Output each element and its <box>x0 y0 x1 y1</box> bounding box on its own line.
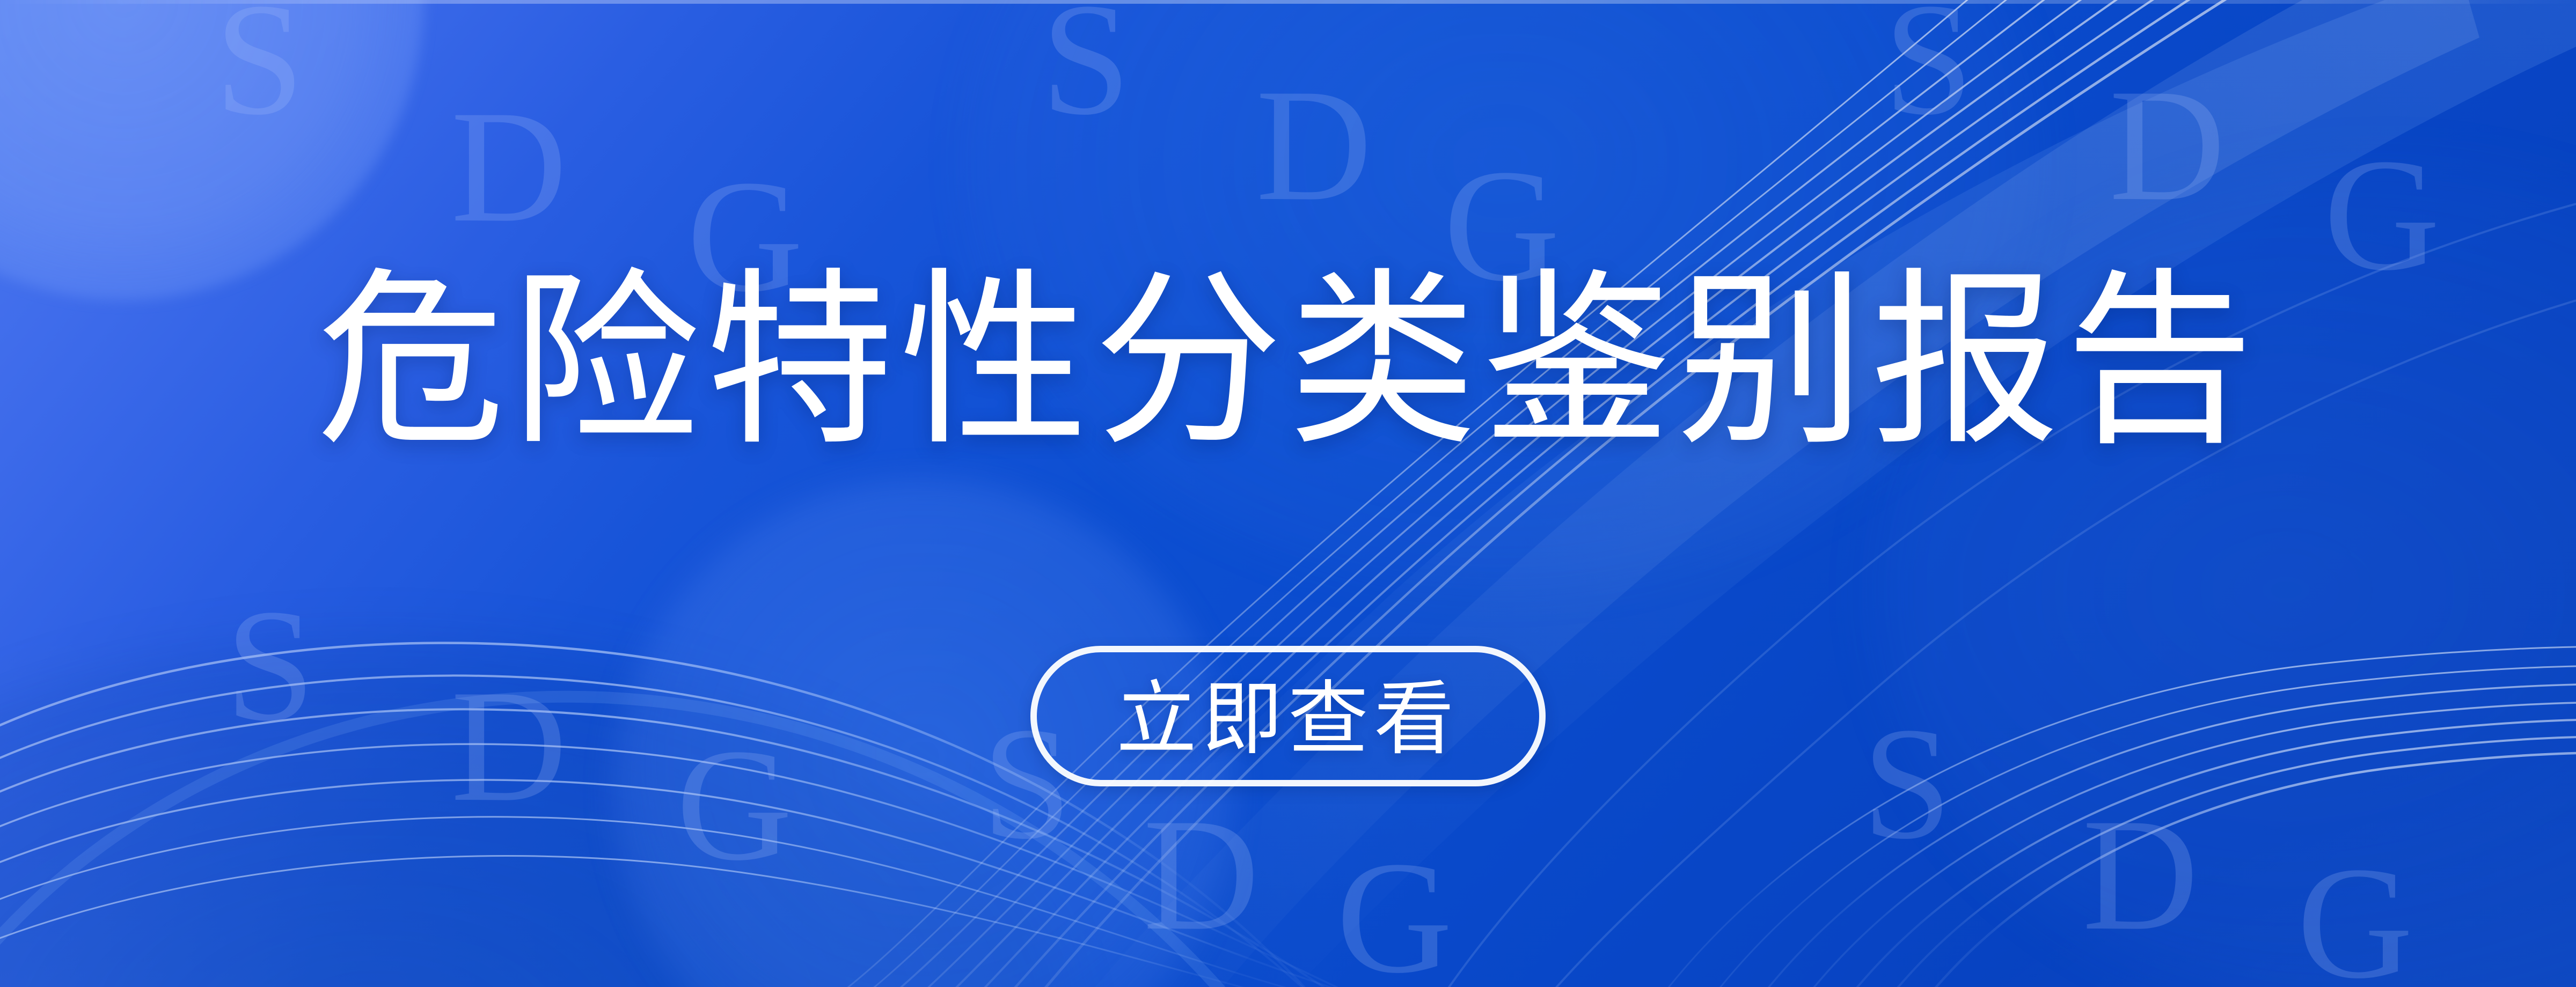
page-title: 危险特性分类鉴别报告 <box>317 263 2259 459</box>
view-now-button[interactable]: 立即查看 <box>1030 646 1546 786</box>
promo-banner: SDGSDGSDGSDGSDGSDG 危险特性分类鉴别报告 立即查看 <box>0 0 2576 987</box>
view-now-button-label: 立即查看 <box>1116 654 1460 770</box>
banner-content: 危险特性分类鉴别报告 立即查看 <box>0 0 2576 987</box>
